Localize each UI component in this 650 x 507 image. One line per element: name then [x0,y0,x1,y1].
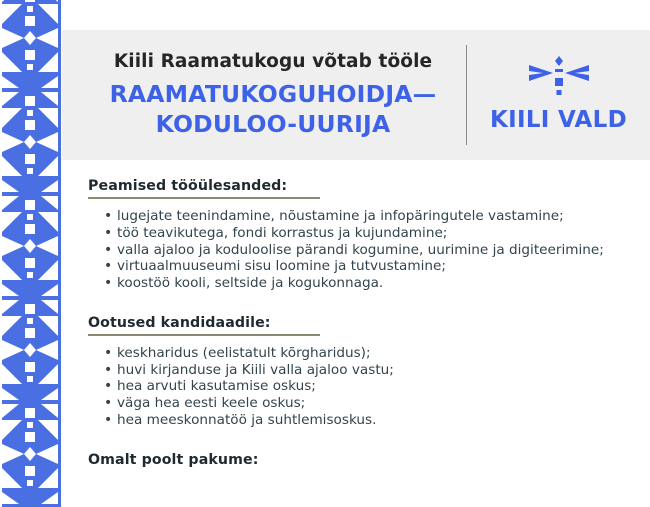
estonian-folk-pattern-border [0,0,62,507]
folk-border-edge-line [58,0,61,507]
section-tasks: Peamised tööülesanded: lugejate teeninda… [62,160,650,292]
page-title: RAAMATUKOGUHOIDJA— KODULOO-UURIJA [84,79,462,139]
section-tasks-heading: Peamised tööülesanded: [62,178,650,194]
section-offer: Omalt poolt pakume: [62,430,650,468]
folk-pattern-svg [2,0,58,507]
list-item: hea arvuti kasutamise oskus; [104,379,632,395]
title-block: Kiili Raamatukogu võtab tööle RAAMATUKOG… [62,51,462,139]
kiili-vald-logo: KIILI VALD [467,54,650,137]
section-expectations-list: keskharidus (eelistatult kõrgharidus); h… [62,346,650,429]
list-item: koostöö kooli, seltside ja kogukonnaga. [104,276,632,292]
advertisement-body: Peamised tööülesanded: lugejate teeninda… [62,160,650,507]
list-item: väga hea eesti keele oskus; [104,396,632,412]
list-item: töö teavikutega, fondi korrastus ja kuju… [104,226,632,242]
section-expectations-heading: Ootused kandidaadile: [62,315,650,331]
list-item: virtuaalmuuseumi sisu loomine ja tutvust… [104,259,632,275]
logo-text: KIILI VALD [490,107,627,133]
section-expectations: Ootused kandidaadile: keskharidus (eelis… [62,293,650,429]
job-title-line-2: KODULOO-UURIJA [84,109,462,139]
section-expectations-rule [88,334,320,336]
job-intro-text: Kiili Raamatukogu võtab tööle [84,51,462,72]
list-item: hea meeskonnatöö ja suhtlemisoskus. [104,413,632,429]
list-item: keskharidus (eelistatult kõrgharidus); [104,346,632,362]
list-item: valla ajaloo ja koduloolise pärandi kogu… [104,243,632,259]
list-item: huvi kirjanduse ja Kiili valla ajaloo va… [104,363,632,379]
section-offer-heading: Omalt poolt pakume: [62,452,650,468]
header-band: Kiili Raamatukogu võtab tööle RAAMATUKOG… [62,30,650,160]
section-tasks-list: lugejate teenindamine, nõustamine ja inf… [62,209,650,292]
dragonfly-icon [527,54,591,104]
dragonfly-svg [527,54,591,100]
section-tasks-rule [88,197,320,199]
job-title-line-1: RAAMATUKOGUHOIDJA— [84,79,462,109]
list-item: lugejate teenindamine, nõustamine ja inf… [104,209,632,225]
